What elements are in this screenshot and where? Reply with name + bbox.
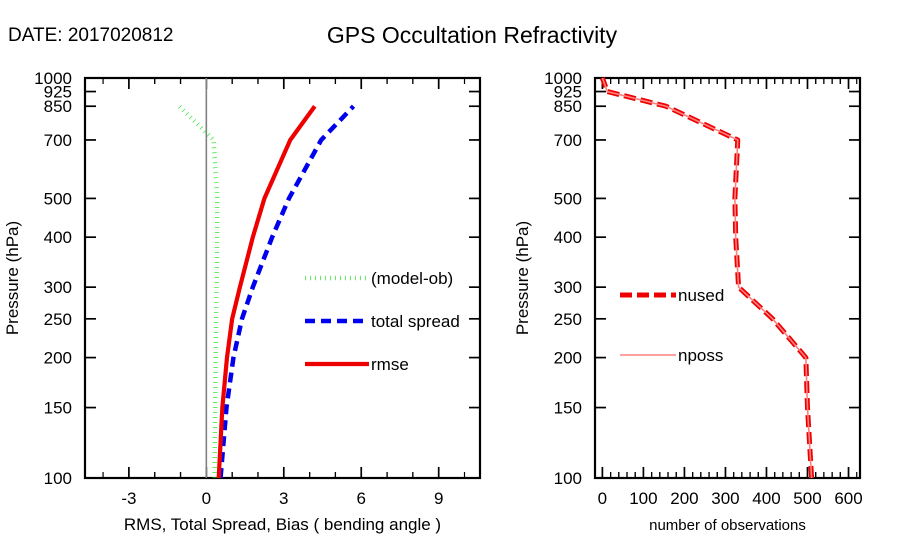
y-tick-label-300: 300 — [44, 278, 72, 297]
left-panel-x-axis-title: RMS, Total Spread, Bias ( bending angle … — [124, 515, 441, 534]
y-tick-label-1000: 1000 — [544, 69, 582, 88]
y-tick-label-150: 150 — [44, 399, 72, 418]
x-tick-label-500: 500 — [793, 489, 821, 508]
y-tick-label-100: 100 — [44, 469, 72, 488]
legend-label--model-ob-: (model-ob) — [371, 269, 453, 288]
x-tick-label-3: 3 — [279, 489, 288, 508]
y-tick-label-150: 150 — [554, 399, 582, 418]
x-tick-label-100: 100 — [629, 489, 657, 508]
legend-label-total-spread: total spread — [371, 312, 460, 331]
y-tick-label-400: 400 — [554, 228, 582, 247]
date-label: DATE: 2017020812 — [8, 25, 174, 46]
y-tick-label-300: 300 — [554, 278, 582, 297]
x-tick-label-200: 200 — [670, 489, 698, 508]
left-panel-y-axis-title: Pressure (hPa) — [3, 221, 22, 335]
y-tick-label-100: 100 — [554, 469, 582, 488]
figure-canvas: DATE: 2017020812 GPS Occultation Refract… — [0, 0, 900, 560]
legend-label-nposs: nposs — [678, 346, 723, 365]
y-tick-label-400: 400 — [44, 228, 72, 247]
x-tick-label-9: 9 — [434, 489, 443, 508]
x-tick-label--3: -3 — [121, 489, 136, 508]
y-tick-label-700: 700 — [554, 131, 582, 150]
x-tick-label-0: 0 — [598, 489, 607, 508]
y-tick-label-1000: 1000 — [34, 69, 72, 88]
right-panel-x-axis-title: number of observations — [649, 517, 806, 534]
x-tick-label-6: 6 — [357, 489, 366, 508]
right-panel-y-axis-title: Pressure (hPa) — [513, 221, 532, 335]
page-title: GPS Occultation Refractivity — [327, 22, 618, 48]
y-tick-label-200: 200 — [554, 349, 582, 368]
y-tick-label-200: 200 — [44, 349, 72, 368]
y-tick-label-250: 250 — [554, 310, 582, 329]
y-tick-label-500: 500 — [44, 189, 72, 208]
y-tick-label-700: 700 — [44, 131, 72, 150]
y-tick-label-250: 250 — [44, 310, 72, 329]
chart-page: DATE: 2017020812 GPS Occultation Refract… — [0, 0, 900, 560]
x-tick-label-600: 600 — [834, 489, 862, 508]
x-tick-label-0: 0 — [202, 489, 211, 508]
x-tick-label-300: 300 — [711, 489, 739, 508]
legend-label-rmse: rmse — [371, 355, 409, 374]
y-tick-label-500: 500 — [554, 189, 582, 208]
legend-label-nused: nused — [678, 286, 724, 305]
x-tick-label-400: 400 — [752, 489, 780, 508]
